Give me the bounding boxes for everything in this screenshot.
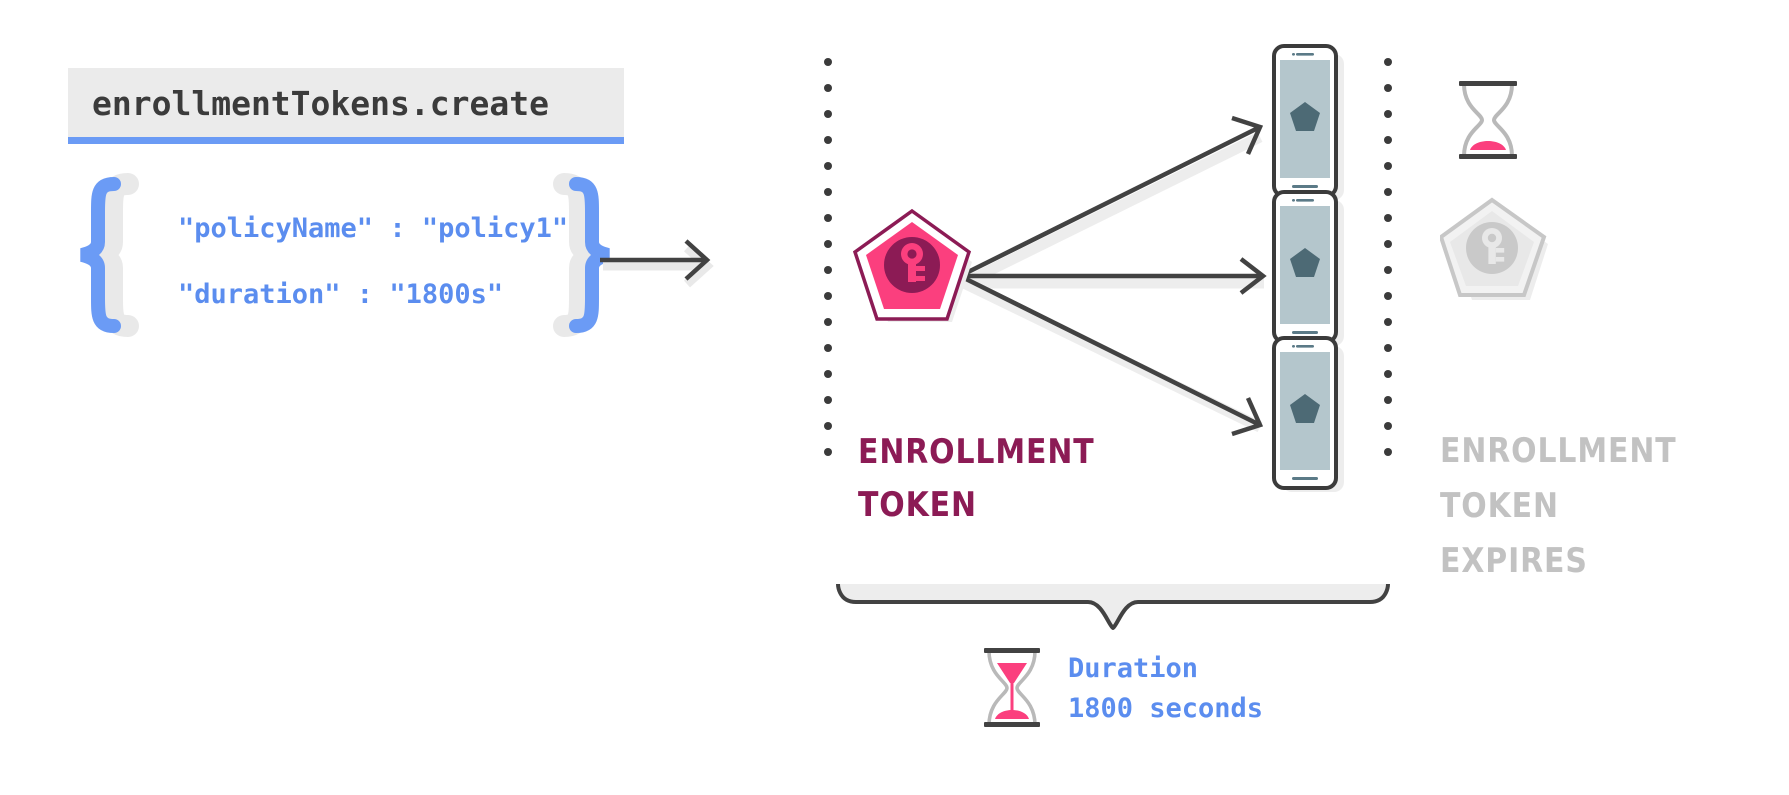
device-3 <box>1272 336 1348 496</box>
expired-token-icon <box>1440 196 1552 304</box>
device-2 <box>1272 190 1348 350</box>
duration-value: 1800 seconds <box>1068 689 1263 729</box>
request-arrow <box>600 232 720 292</box>
dotted-divider-right <box>1384 58 1392 474</box>
token-expires-label: Enrollment Token Expires <box>1440 424 1677 589</box>
page-title: enrollmentTokens.create <box>92 84 600 123</box>
expires-label-line-1: Enrollment <box>1440 424 1677 479</box>
duration-brace-icon <box>836 580 1390 632</box>
api-call-card: enrollmentTokens.create <box>68 68 624 144</box>
token-label-line-1: Enrollment <box>858 426 1095 479</box>
api-title-box: enrollmentTokens.create <box>68 68 624 137</box>
device-1 <box>1272 44 1348 204</box>
enrollment-token-label: Enrollment Token <box>858 426 1095 532</box>
token-label-line-2: Token <box>858 479 1095 532</box>
expires-label-line-2: Token <box>1440 479 1677 534</box>
expires-label-line-3: Expires <box>1440 534 1677 589</box>
open-brace-icon <box>68 180 138 330</box>
request-body-line: "duration" : "1800s" <box>178 262 568 328</box>
request-body-line: "policyName" : "policy1" <box>178 196 568 262</box>
request-body-block: "policyName" : "policy1" "duration" : "1… <box>68 180 628 330</box>
request-body-lines: "policyName" : "policy1" "duration" : "1… <box>178 196 568 328</box>
api-title-underline <box>68 137 624 144</box>
hourglass-flowing-icon <box>980 645 1044 731</box>
duration-label: Duration <box>1068 649 1263 689</box>
enrollment-token-icon <box>852 208 976 328</box>
diagram-canvas: enrollmentTokens.create "policyName" : "… <box>0 0 1789 795</box>
dotted-divider-left <box>824 58 832 474</box>
hourglass-icon <box>1452 78 1524 162</box>
duration-text: Duration 1800 seconds <box>1068 649 1263 729</box>
